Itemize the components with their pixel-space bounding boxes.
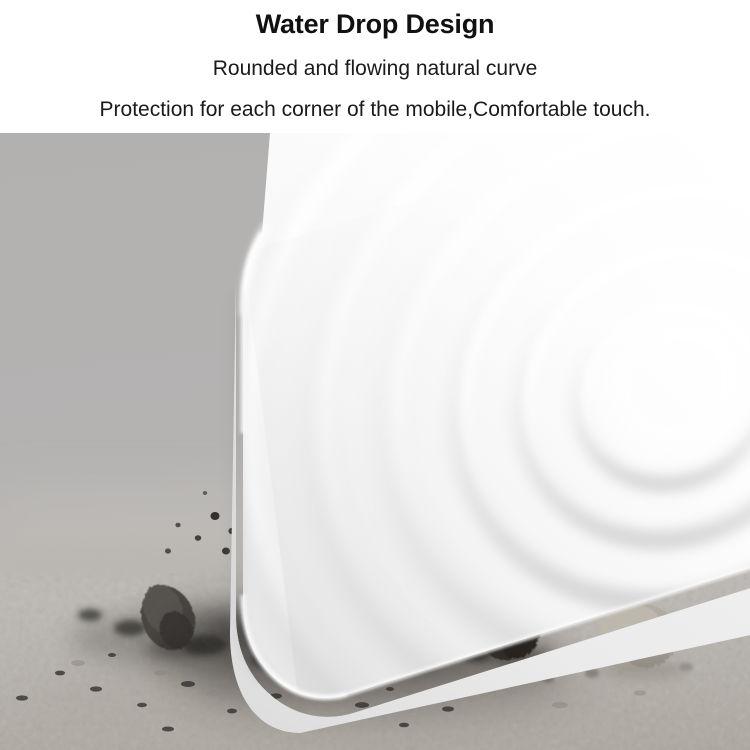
subtitle-line-2: Protection for each corner of the mobile…	[0, 98, 750, 122]
page-title: Water Drop Design	[0, 9, 750, 40]
header-text-block: Water Drop Design Rounded and flowing na…	[0, 0, 750, 133]
subtitle-line-1: Rounded and flowing natural curve	[0, 57, 750, 81]
photo-canvas	[0, 133, 750, 750]
product-photo	[0, 133, 750, 750]
product-marketing-image: Water Drop Design Rounded and flowing na…	[0, 0, 750, 750]
